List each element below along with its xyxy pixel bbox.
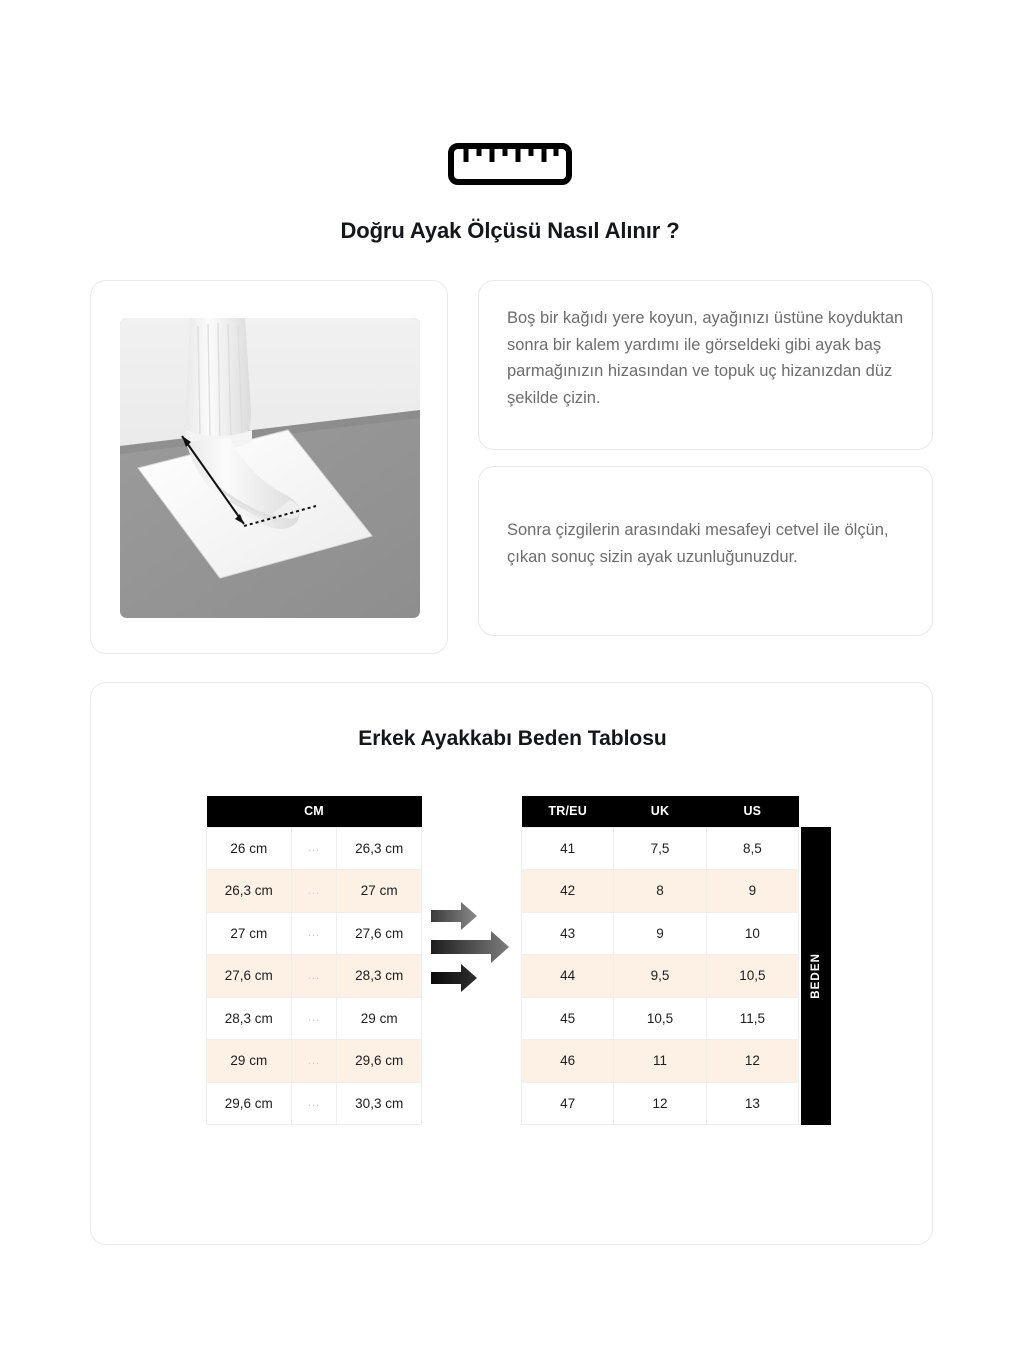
instruction-card-2: Sonra çizgilerin arasındaki mesafeyi cet… <box>478 466 933 636</box>
size-table-body: 417,58,5428943910449,510,54510,511,54611… <box>522 827 799 1125</box>
size-cell-tr-eu: 42 <box>522 870 614 913</box>
cm-range-low: 27 cm <box>207 912 292 955</box>
size-cell-tr-eu: 45 <box>522 997 614 1040</box>
arrows-icon <box>429 898 519 998</box>
cm-table-row: 28,3 cm...29 cm <box>207 997 422 1040</box>
size-cell-uk: 11 <box>614 1040 706 1083</box>
size-table-row: 417,58,5 <box>522 827 799 870</box>
cm-table-row: 29 cm...29,6 cm <box>207 1040 422 1083</box>
cm-range-separator: ... <box>291 827 337 870</box>
size-table-row: 43910 <box>522 912 799 955</box>
size-table-row: 471213 <box>522 1082 799 1125</box>
cm-range-separator: ... <box>291 1082 337 1125</box>
size-cell-us: 10,5 <box>706 955 798 998</box>
cm-range-high: 29 cm <box>337 997 422 1040</box>
cm-range-low: 26,3 cm <box>207 870 292 913</box>
instruction-step-1-text: Boş bir kağıdı yere koyun, ayağınızı üst… <box>507 305 906 412</box>
size-cell-uk: 9,5 <box>614 955 706 998</box>
cm-range-separator: ... <box>291 997 337 1040</box>
size-cell-tr-eu: 47 <box>522 1082 614 1125</box>
cm-range-high: 30,3 cm <box>337 1082 422 1125</box>
cm-table-row: 26 cm...26,3 cm <box>207 827 422 870</box>
cm-range-high: 28,3 cm <box>337 955 422 998</box>
ruler-icon-container <box>0 143 1020 185</box>
cm-range-low: 26 cm <box>207 827 292 870</box>
foot-measurement-photo <box>120 318 420 618</box>
size-cell-uk: 12 <box>614 1082 706 1125</box>
cm-range-high: 29,6 cm <box>337 1040 422 1083</box>
ruler-icon <box>448 143 572 185</box>
cm-range-separator: ... <box>291 912 337 955</box>
beden-vertical-bar: BEDEN <box>801 827 831 1125</box>
cm-range-table: CM 26 cm...26,3 cm26,3 cm...27 cm27 cm..… <box>206 796 422 1125</box>
size-cell-tr-eu: 44 <box>522 955 614 998</box>
size-cell-uk: 10,5 <box>614 997 706 1040</box>
foot-photo-illustration <box>120 318 420 618</box>
conversion-arrows <box>429 898 519 998</box>
cm-range-separator: ... <box>291 955 337 998</box>
shoe-size-table: TR/EUUKUS 417,58,5428943910449,510,54510… <box>521 796 799 1125</box>
size-table-header-uk: UK <box>614 796 706 827</box>
instruction-step-2-text: Sonra çizgilerin arasındaki mesafeyi cet… <box>507 517 906 570</box>
size-chart-title: Erkek Ayakkabı Beden Tablosu <box>91 727 934 751</box>
photo-card <box>90 280 448 654</box>
size-table-row: 461112 <box>522 1040 799 1083</box>
size-cell-us: 11,5 <box>706 997 798 1040</box>
size-cell-uk: 8 <box>614 870 706 913</box>
cm-table-header-cm: CM <box>207 796 422 827</box>
size-cell-us: 10 <box>706 912 798 955</box>
cm-table-row: 29,6 cm...30,3 cm <box>207 1082 422 1125</box>
cm-range-low: 29 cm <box>207 1040 292 1083</box>
size-table-row: 4510,511,5 <box>522 997 799 1040</box>
cm-table-row: 26,3 cm...27 cm <box>207 870 422 913</box>
size-cell-tr-eu: 41 <box>522 827 614 870</box>
page-title: Doğru Ayak Ölçüsü Nasıl Alınır ? <box>0 218 1020 244</box>
cm-range-low: 28,3 cm <box>207 997 292 1040</box>
cm-range-low: 27,6 cm <box>207 955 292 998</box>
size-table-header-us: US <box>706 796 798 827</box>
size-cell-uk: 7,5 <box>614 827 706 870</box>
cm-table-row: 27,6 cm...28,3 cm <box>207 955 422 998</box>
size-cell-us: 13 <box>706 1082 798 1125</box>
instruction-card-1: Boş bir kağıdı yere koyun, ayağınızı üst… <box>478 280 933 450</box>
cm-range-separator: ... <box>291 870 337 913</box>
cm-range-high: 26,3 cm <box>337 827 422 870</box>
size-cell-uk: 9 <box>614 912 706 955</box>
cm-range-high: 27 cm <box>337 870 422 913</box>
size-chart-card: Erkek Ayakkabı Beden Tablosu CM 26 cm...… <box>90 682 933 1245</box>
cm-range-high: 27,6 cm <box>337 912 422 955</box>
size-cell-tr-eu: 43 <box>522 912 614 955</box>
size-cell-tr-eu: 46 <box>522 1040 614 1083</box>
size-table-header-tr-eu: TR/EU <box>522 796 614 827</box>
cm-table-row: 27 cm...27,6 cm <box>207 912 422 955</box>
cm-table-body: 26 cm...26,3 cm26,3 cm...27 cm27 cm...27… <box>207 827 422 1125</box>
size-table-row: 4289 <box>522 870 799 913</box>
size-table-row: 449,510,5 <box>522 955 799 998</box>
size-cell-us: 8,5 <box>706 827 798 870</box>
cm-range-low: 29,6 cm <box>207 1082 292 1125</box>
size-cell-us: 12 <box>706 1040 798 1083</box>
size-guide-page: Doğru Ayak Ölçüsü Nasıl Alınır ? <box>0 0 1020 1360</box>
size-cell-us: 9 <box>706 870 798 913</box>
cm-range-separator: ... <box>291 1040 337 1083</box>
beden-label: BEDEN <box>810 953 822 999</box>
size-table-header-row: TR/EUUKUS <box>522 796 799 827</box>
cm-table-header-row: CM <box>207 796 422 827</box>
